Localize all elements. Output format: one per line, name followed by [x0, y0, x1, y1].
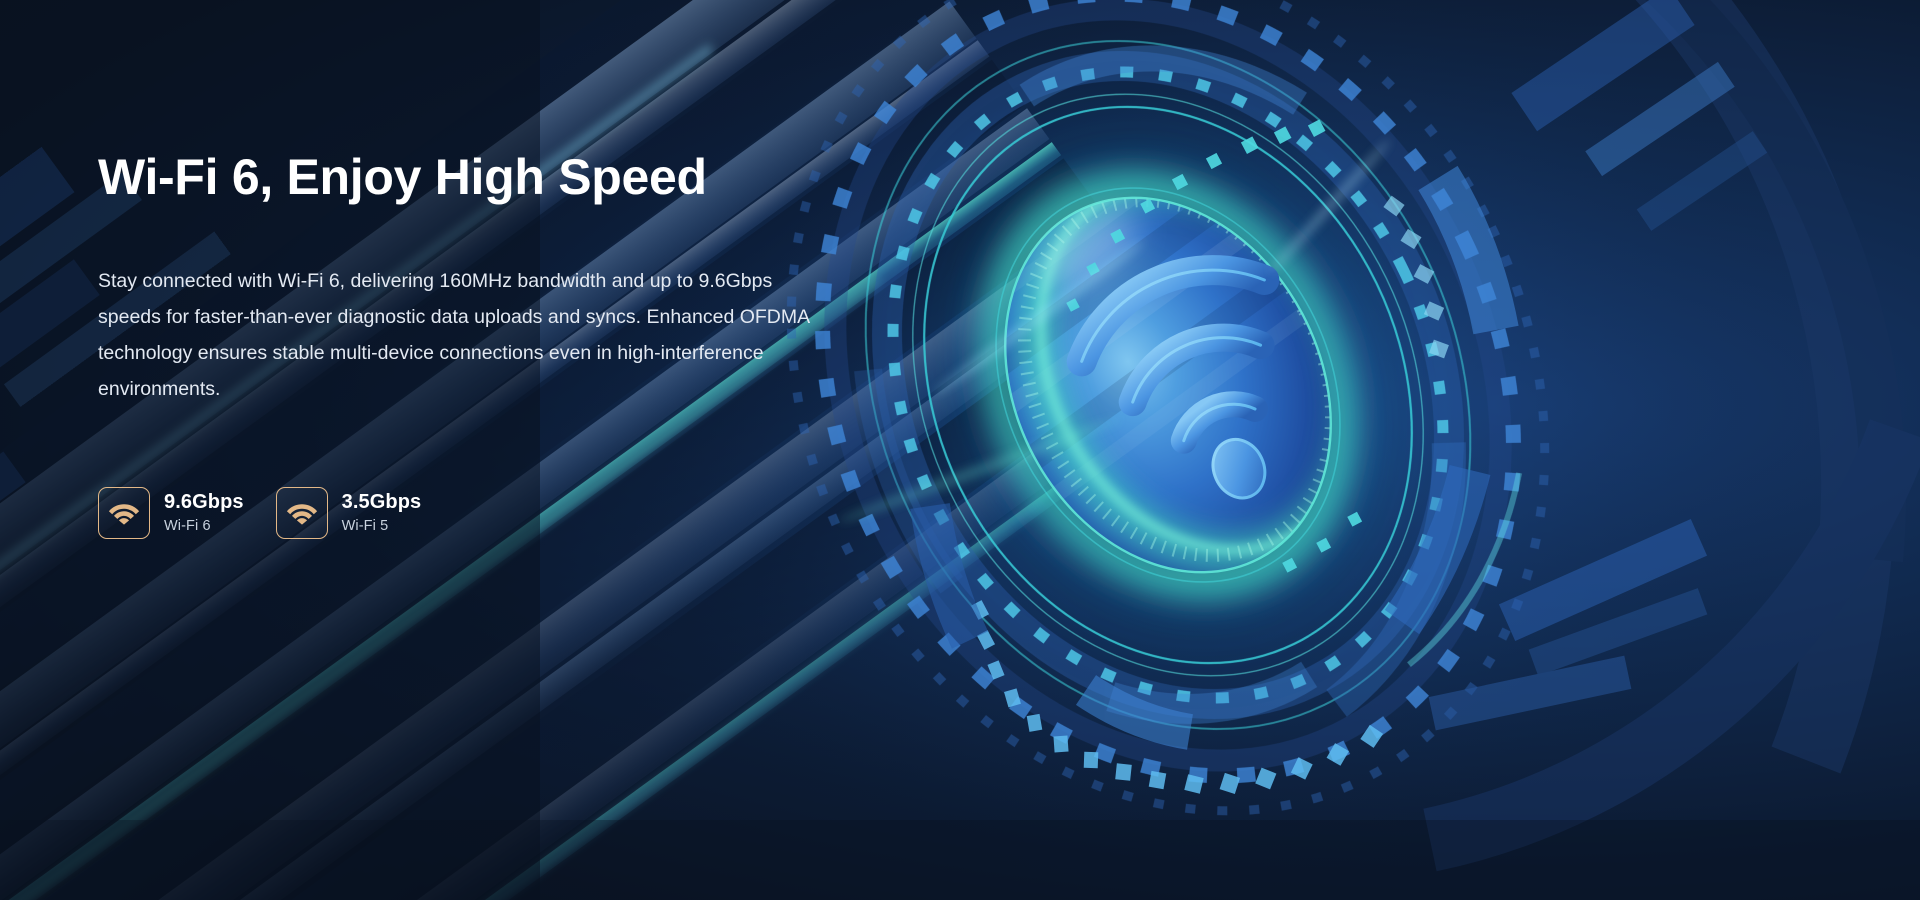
stat-label: Wi-Fi 6 [164, 519, 244, 534]
wifi-glyph [1065, 242, 1343, 537]
wifi-icon [98, 487, 150, 539]
stat-wifi5: 3.5Gbps Wi-Fi 5 [276, 487, 422, 539]
stat-wifi6: 9.6Gbps Wi-Fi 6 [98, 487, 244, 539]
stat-label: Wi-Fi 5 [342, 519, 422, 534]
stat-value: 3.5Gbps [342, 492, 422, 512]
stat-text: 3.5Gbps Wi-Fi 5 [342, 492, 422, 534]
speed-stats-group: 9.6Gbps Wi-Fi 6 3.5Gbps Wi-Fi 5 [98, 487, 421, 539]
stat-text: 9.6Gbps Wi-Fi 6 [164, 492, 244, 534]
hero-banner: Wi-Fi 6, Enjoy High Speed Stay connected… [0, 0, 1920, 900]
wifi-orb-illustration [0, 0, 1920, 900]
hero-description: Stay connected with Wi-Fi 6, delivering … [98, 263, 813, 407]
wifi-icon [276, 487, 328, 539]
page-title: Wi-Fi 6, Enjoy High Speed [98, 148, 858, 207]
hero-copy: Wi-Fi 6, Enjoy High Speed Stay connected… [98, 148, 858, 407]
stat-value: 9.6Gbps [164, 492, 244, 512]
